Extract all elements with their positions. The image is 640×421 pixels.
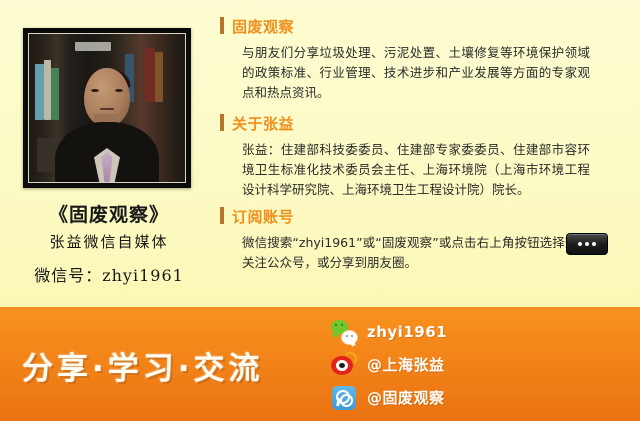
wechat-icon	[331, 319, 357, 345]
portrait-photo	[28, 33, 186, 183]
weibo-icon	[331, 352, 357, 378]
account-wechat-id: 微信号：zhyi1961	[0, 262, 218, 286]
more-options-button[interactable]	[566, 233, 608, 255]
social-links: zhyi1961 @上海张益 @固废观察	[331, 315, 491, 414]
info-column: 固废观察 与朋友们分享垃圾处理、污泥处置、土壤修复等环境保护领域的政策标准、行业…	[218, 0, 640, 307]
section-subscribe: 订阅账号 微信搜索“zhyi1961”或“固废观察”或点击右上角按钮选择查看关注…	[218, 206, 640, 273]
person-figure	[55, 72, 159, 183]
social-label-wechat: zhyi1961	[367, 323, 447, 341]
social-row-wechat[interactable]: zhyi1961	[331, 315, 491, 348]
account-subtitle: 张益微信自媒体	[0, 231, 218, 252]
shelf-object	[75, 42, 111, 51]
section-heading: 订阅账号	[218, 206, 640, 227]
section-about-author: 关于张益 张益：住建部科技委委员、住建部专家委委员、住建部市容环境卫生标准化技术…	[218, 113, 640, 199]
more-dots-icon	[567, 234, 607, 254]
section-heading: 关于张益	[218, 113, 640, 134]
account-title: 《固废观察》	[0, 200, 218, 227]
eye-right	[115, 89, 123, 92]
eye-left	[91, 89, 99, 92]
tencent-weibo-icon	[331, 385, 357, 411]
section-heading: 固废观察	[218, 16, 640, 37]
social-label-weibo: @上海张益	[367, 354, 445, 375]
book	[35, 64, 44, 120]
book	[44, 60, 51, 120]
profile-column: 《固废观察》 张益微信自媒体 微信号：zhyi1961	[0, 0, 218, 307]
social-row-tencent-weibo[interactable]: @固废观察	[331, 381, 491, 414]
section-body: 张益：住建部科技委委员、住建部专家委委员、住建部市容环境卫生标准化技术委员会主任…	[242, 140, 590, 199]
portrait-frame	[23, 28, 191, 188]
social-label-tencent-weibo: @固废观察	[367, 387, 445, 408]
wechat-profile-card: 《固废观察》 张益微信自媒体 微信号：zhyi1961 固废观察 与朋友们分享垃…	[0, 0, 640, 421]
mouth	[100, 108, 114, 110]
section-body: 与朋友们分享垃圾处理、污泥处置、土壤修复等环境保护领域的政策标准、行业管理、技术…	[242, 43, 590, 102]
footer-slogan: 分享·学习·交流	[22, 343, 264, 388]
footer-bar: 分享·学习·交流 zhyi1961 @上海张益	[0, 307, 640, 421]
social-row-weibo[interactable]: @上海张益	[331, 348, 491, 381]
section-about-account: 固废观察 与朋友们分享垃圾处理、污泥处置、土壤修复等环境保护领域的政策标准、行业…	[218, 16, 640, 102]
section-body: 微信搜索“zhyi1961”或“固废观察”或点击右上角按钮选择查看关注公众号，或…	[242, 233, 590, 273]
